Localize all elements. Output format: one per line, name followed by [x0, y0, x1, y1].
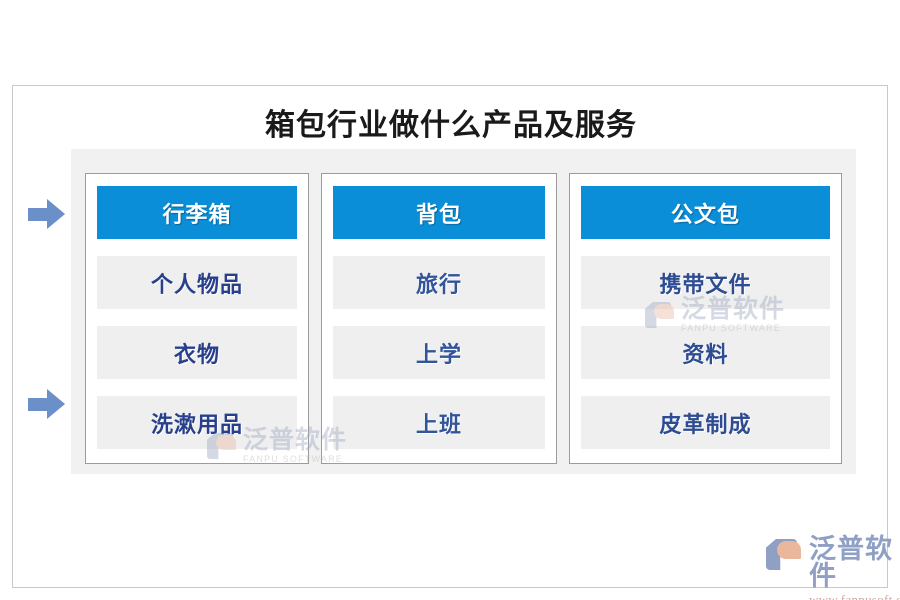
arrow-right-icon-top [28, 199, 68, 229]
column-item-luggage-1[interactable]: 个人物品 [97, 256, 297, 309]
column-header-backpack[interactable]: 背包 [333, 186, 545, 239]
column-item-briefcase-1[interactable]: 携带文件 [581, 256, 830, 309]
brand-text: 泛普软件 www.fanpusoft.com [809, 536, 900, 600]
fanpu-logo-icon [766, 536, 804, 572]
diagram-panel: 行李箱 个人物品 衣物 洗漱用品 背包 旅行 上学 上班 公文包 携带文件 资料… [71, 149, 856, 474]
brand-logo: 泛普软件 www.fanpusoft.com [766, 536, 900, 600]
arrow-head [47, 389, 65, 419]
column-item-backpack-1[interactable]: 旅行 [333, 256, 545, 309]
page-title: 箱包行业做什么产品及服务 [13, 100, 889, 144]
arrow-head [47, 199, 65, 229]
column-item-briefcase-2[interactable]: 资料 [581, 326, 830, 379]
diagram-column-briefcase: 公文包 携带文件 资料 皮革制成 [569, 173, 842, 464]
brand-url: www.fanpusoft.com [809, 593, 900, 600]
column-item-backpack-2[interactable]: 上学 [333, 326, 545, 379]
brand-name: 泛普软件 [809, 536, 900, 590]
content-frame: 箱包行业做什么产品及服务 行李箱 个人物品 衣物 洗漱用品 背包 旅行 上学 上… [12, 85, 888, 588]
diagram-column-luggage: 行李箱 个人物品 衣物 洗漱用品 [85, 173, 309, 464]
column-header-briefcase[interactable]: 公文包 [581, 186, 830, 239]
column-item-luggage-2[interactable]: 衣物 [97, 326, 297, 379]
screenshot-root: 箱包行业做什么产品及服务 行李箱 个人物品 衣物 洗漱用品 背包 旅行 上学 上… [0, 0, 900, 600]
column-item-briefcase-3[interactable]: 皮革制成 [581, 396, 830, 449]
column-header-luggage[interactable]: 行李箱 [97, 186, 297, 239]
column-item-backpack-3[interactable]: 上班 [333, 396, 545, 449]
column-item-luggage-3[interactable]: 洗漱用品 [97, 396, 297, 449]
arrow-right-icon-bottom [28, 389, 68, 419]
diagram-column-backpack: 背包 旅行 上学 上班 [321, 173, 557, 464]
